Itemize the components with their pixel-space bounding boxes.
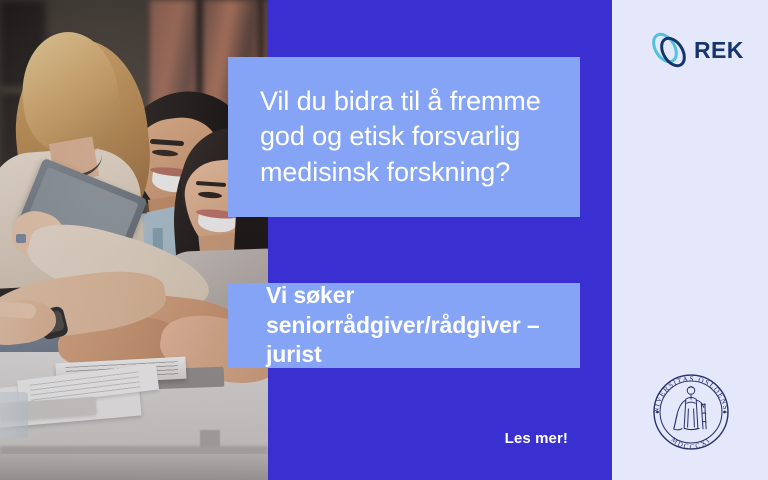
photo-woman1-ring (16, 234, 26, 243)
uio-seal-icon: UNIVERSITAS OSLOENSIS MDCCCXI (648, 368, 734, 456)
rek-wordmark: REK (694, 39, 744, 62)
photo-glass (0, 392, 28, 438)
rek-interlocking-ovals-icon (648, 28, 690, 72)
headline-box: Vil du bidra til å fremme god og etisk f… (228, 57, 580, 217)
subheadline-text: Vi søker seniorrådgiver/rådgiver – juris… (228, 281, 580, 371)
job-ad-banner: REK UNIVERSITAS OSLOENSIS MDCCCXI (0, 0, 768, 480)
headline-text: Vil du bidra til å fremme god og etisk f… (228, 84, 580, 189)
read-more-link[interactable]: Les mer! (388, 430, 568, 452)
svg-text:MDCCCXI: MDCCCXI (670, 436, 713, 451)
photo-desk-front (0, 454, 268, 480)
subheadline-box: Vi søker seniorrådgiver/rådgiver – juris… (228, 283, 580, 368)
rek-logo: REK (648, 26, 738, 74)
